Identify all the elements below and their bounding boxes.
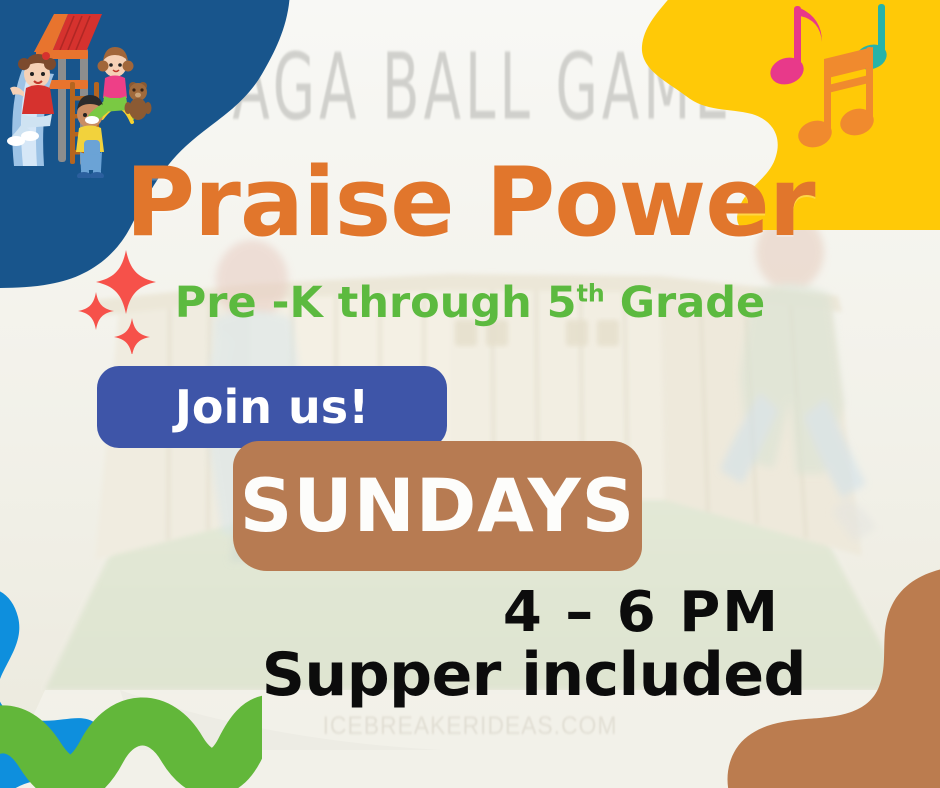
music-notes-icon xyxy=(766,4,926,159)
meal-label: Supper included xyxy=(0,645,916,705)
subtitle-suffix: Grade xyxy=(605,278,765,328)
day-badge: SUNDAYS xyxy=(233,441,642,571)
background-watermark: ICEBREAKERIDEAS.COM xyxy=(323,712,618,741)
day-label: SUNDAYS xyxy=(240,464,636,549)
join-us-label: Join us! xyxy=(175,380,369,434)
flyer-poster: GAGA BALL GAME ICEBREAKERIDEAS.COM xyxy=(0,0,940,788)
subtitle: Pre -K through 5th Grade xyxy=(0,282,940,325)
join-us-button[interactable]: Join us! xyxy=(97,366,447,448)
time-label: 4 – 6 PM xyxy=(0,585,910,641)
subtitle-ordinal: th xyxy=(577,280,605,308)
page-title: Praise Power xyxy=(0,156,940,251)
subtitle-prefix: Pre -K through 5 xyxy=(175,278,577,328)
